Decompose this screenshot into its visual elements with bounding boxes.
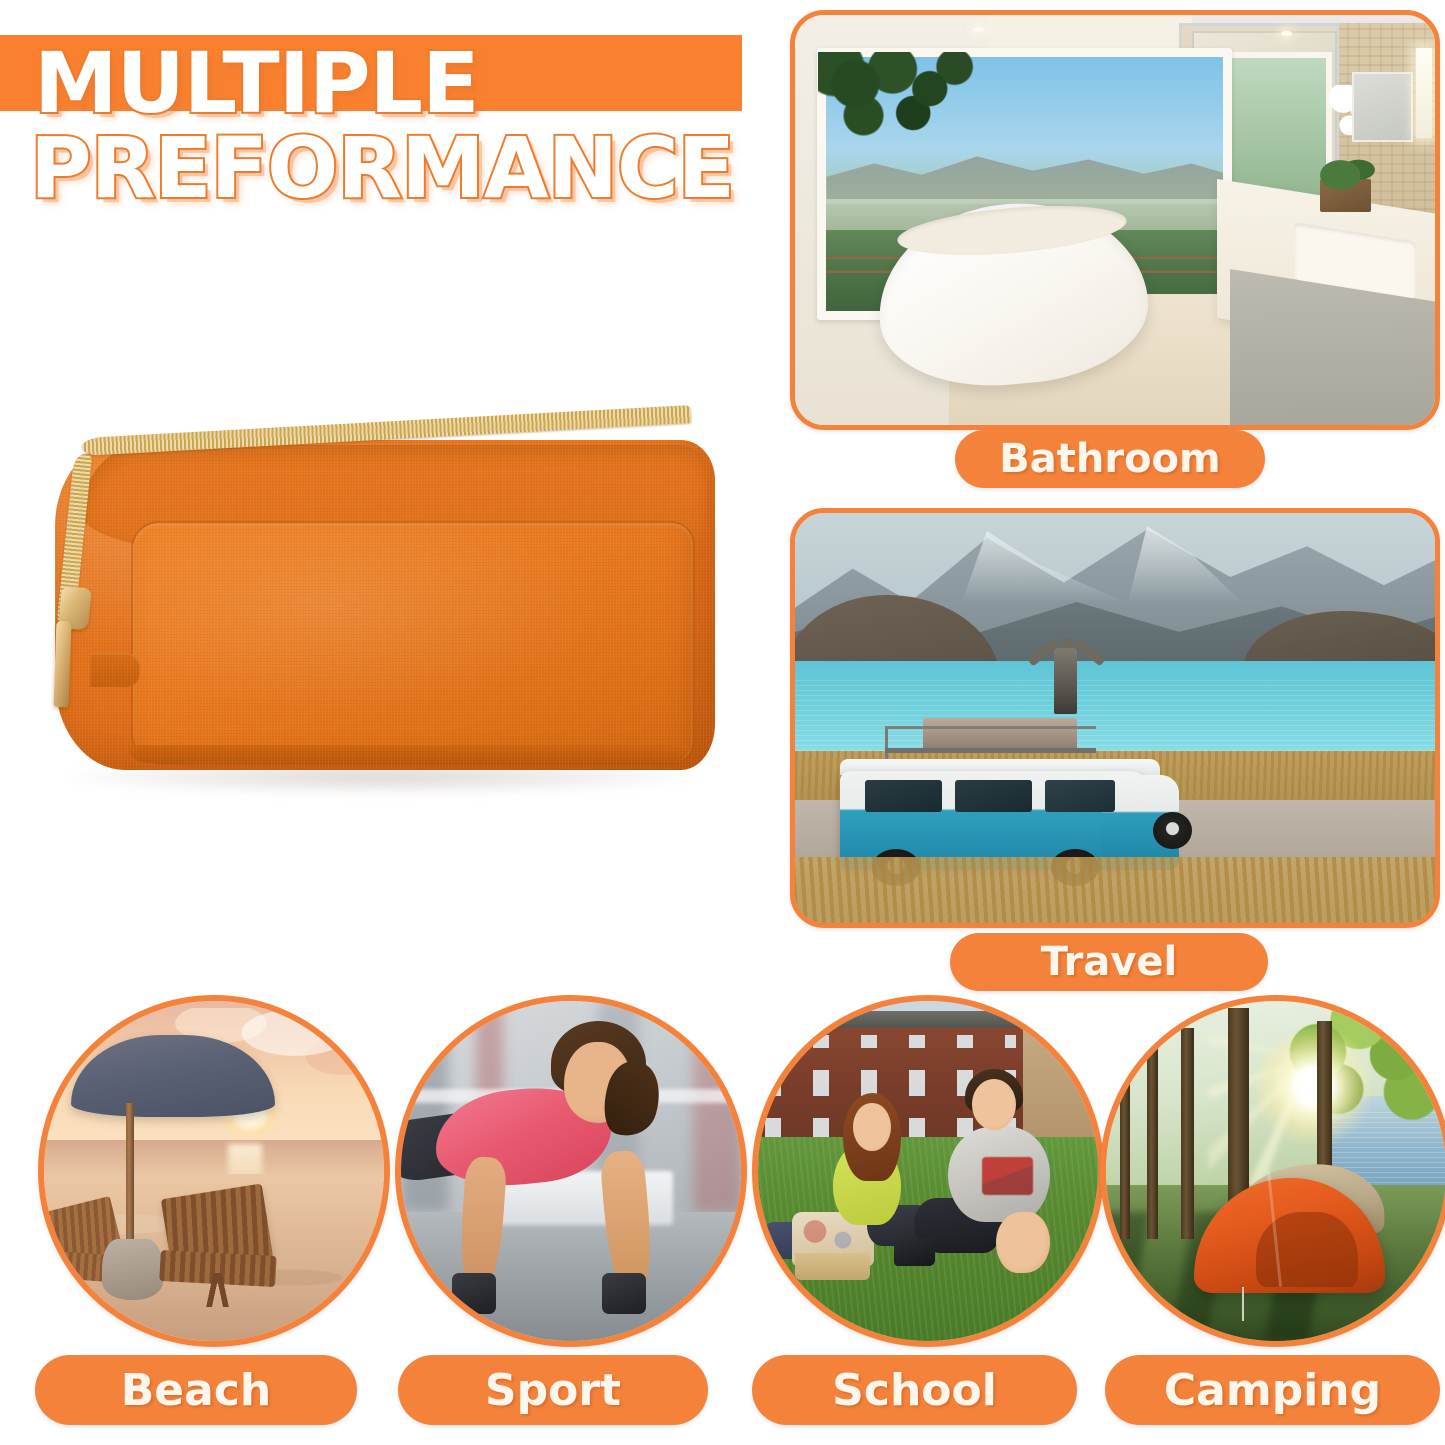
travel-van-window [865,780,942,813]
sport-athlete-right-glove [602,1273,646,1314]
scene-label-bathroom: Bathroom [955,430,1265,488]
beach-scene [44,1001,384,1341]
school-roofline [758,1011,1023,1028]
travel-van-window [1045,780,1115,813]
school-student-girl-head [853,1103,890,1151]
scene-label-beach: Beach [35,1355,357,1425]
camping-tree-trunk [1181,1028,1195,1239]
school-student-boy-shoe [894,1239,935,1266]
travel-roof-rack [885,726,1096,762]
camping-scene [1106,1001,1445,1341]
scene-label-travel-text: Travel [1041,939,1178,985]
sport-scene [401,1001,741,1341]
travel-van-spare-tire [1153,812,1191,849]
title-line-1: MULTIPLE [34,42,830,125]
school-scene [758,1001,1098,1341]
scene-photo-sport [395,995,747,1347]
page-title: MULTIPLE PREFORMANCE [30,42,830,210]
school-student-boy-knee [996,1212,1050,1273]
beach-lounge-chair-legs [173,1273,261,1307]
beach-umbrella-base [102,1239,163,1300]
pouch-side-seam [90,653,140,687]
scene-label-camping-text: Camping [1164,1365,1381,1416]
scene-photo-school [752,995,1104,1347]
travel-van-window [955,780,1032,813]
scene-label-sport-text: Sport [485,1365,621,1416]
travel-foreground-grass [795,857,1435,923]
zipper-pull-tab [54,621,72,707]
scene-label-school: School [752,1355,1077,1425]
travel-person-body [1054,648,1077,714]
bathroom-mirror [1352,72,1414,142]
camping-tree-trunk [1120,1062,1130,1239]
pouch-bottom-piping [128,745,688,763]
school-hoodie-graphic [982,1157,1033,1194]
sport-athlete-left-glove [452,1273,496,1314]
scene-photo-bathroom [790,10,1440,430]
scene-photo-camping [1100,995,1445,1347]
scene-photo-beach [38,995,390,1347]
title-line-2: PREFORMANCE [30,127,830,210]
scene-label-school-text: School [832,1365,997,1416]
camping-tent-door [1256,1212,1358,1287]
window-foliage [818,52,1024,174]
scene-label-beach-text: Beach [121,1365,271,1416]
product-infographic: MULTIPLE PREFORMANCE [0,0,1445,1445]
scene-label-bathroom-text: Bathroom [999,436,1220,482]
bathroom-scene [795,15,1435,425]
scene-photo-travel [790,508,1440,928]
scene-label-sport: Sport [398,1355,708,1425]
camping-tree-trunk [1147,1049,1159,1239]
product-photo-pencil-pouch [20,415,760,840]
school-tote-bag-base [795,1253,870,1280]
scene-label-travel: Travel [950,933,1268,991]
travel-scene [795,513,1435,923]
camping-tent-guyline [1242,1287,1244,1321]
bathroom-wall-light [1416,48,1432,138]
scene-label-camping: Camping [1105,1355,1440,1425]
pouch-front-panel [133,523,693,763]
